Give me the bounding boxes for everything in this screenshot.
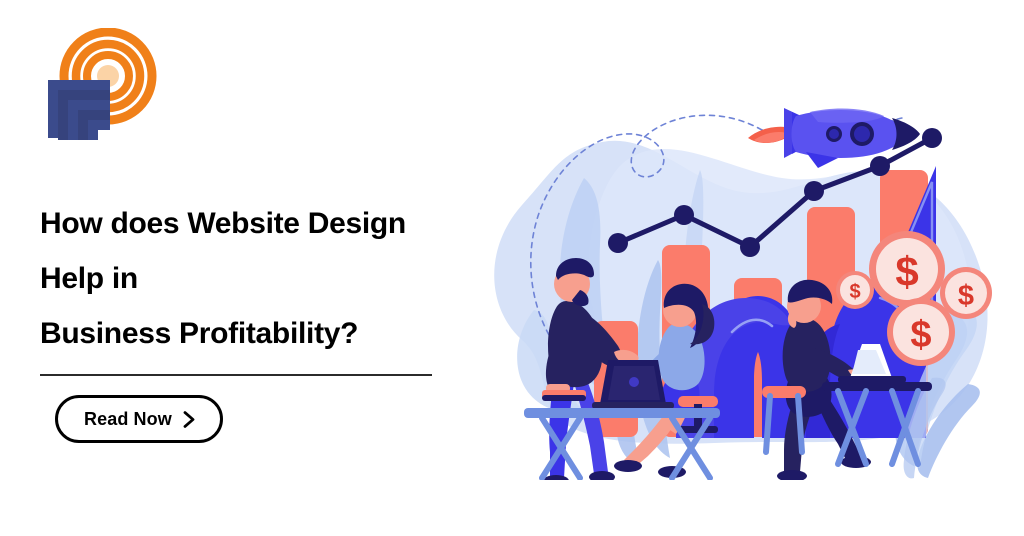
- line-point-6: [922, 128, 942, 148]
- svg-text:$: $: [910, 314, 931, 356]
- svg-text:$: $: [895, 248, 918, 295]
- coin-small-left: $: [836, 271, 874, 309]
- line-point-4: [804, 181, 824, 201]
- brand-logo[interactable]: [42, 28, 160, 140]
- headline-line-3: Business Profitability?: [40, 306, 510, 361]
- svg-text:$: $: [849, 281, 860, 303]
- coin-large-upper: $: [869, 231, 945, 307]
- svg-text:$: $: [958, 280, 974, 312]
- line-point-5: [870, 156, 890, 176]
- line-point-1: [608, 233, 628, 253]
- illustration-canvas: $ $ $: [462, 60, 1024, 480]
- headline-line-1: How does Website Design: [40, 196, 510, 251]
- promo-banner: How does Website Design Help in Business…: [0, 0, 1024, 536]
- business-growth-illustration: $ $ $: [462, 60, 1024, 480]
- left-content-panel: How does Website Design Help in Business…: [0, 0, 500, 536]
- headline-line-2: Help in: [40, 251, 510, 306]
- coin-large-lower: $: [887, 298, 955, 366]
- page-title: How does Website Design Help in Business…: [40, 196, 510, 361]
- divider-rule: [40, 374, 432, 376]
- line-point-3: [740, 237, 760, 257]
- read-now-label: Read Now: [84, 410, 172, 428]
- line-point-2: [674, 205, 694, 225]
- read-now-button[interactable]: Read Now: [55, 395, 223, 443]
- chevron-right-icon: [183, 411, 196, 428]
- concentric-rings-chevron-logo-icon: [42, 28, 160, 140]
